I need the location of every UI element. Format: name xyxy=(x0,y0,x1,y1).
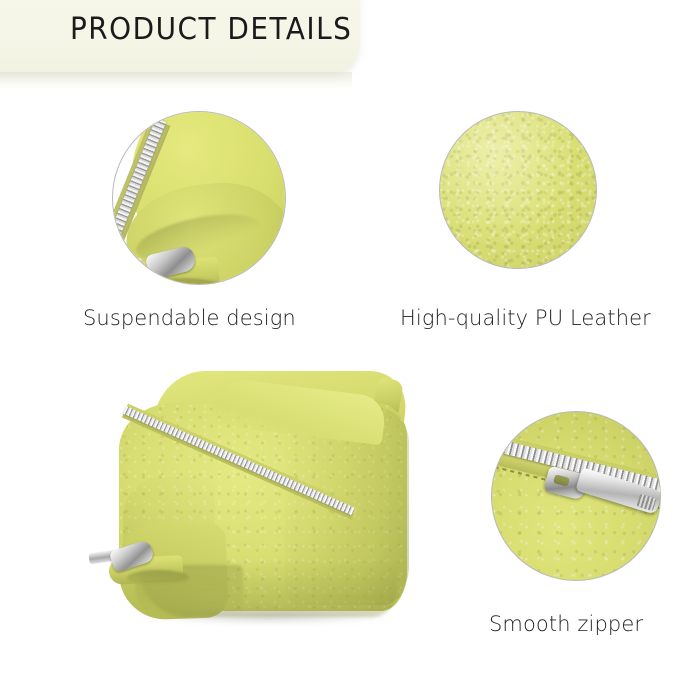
leather-highlight xyxy=(440,112,596,268)
feature-caption-zipper: Smooth zipper xyxy=(489,612,643,636)
page-header-banner: PRODUCT DETAILS xyxy=(0,0,360,72)
feature-image-leather xyxy=(439,111,597,269)
feature-caption-suspendable: Suspendable design xyxy=(83,306,296,330)
feature-image-zipper xyxy=(491,411,661,581)
feature-image-suspendable xyxy=(112,111,286,285)
page-title: PRODUCT DETAILS xyxy=(70,12,352,47)
main-product-image xyxy=(95,365,440,650)
banner-drop-shadow xyxy=(0,72,352,90)
bag-contact-shadow xyxy=(147,609,391,625)
feature-caption-leather: High-quality PU Leather xyxy=(400,306,651,330)
